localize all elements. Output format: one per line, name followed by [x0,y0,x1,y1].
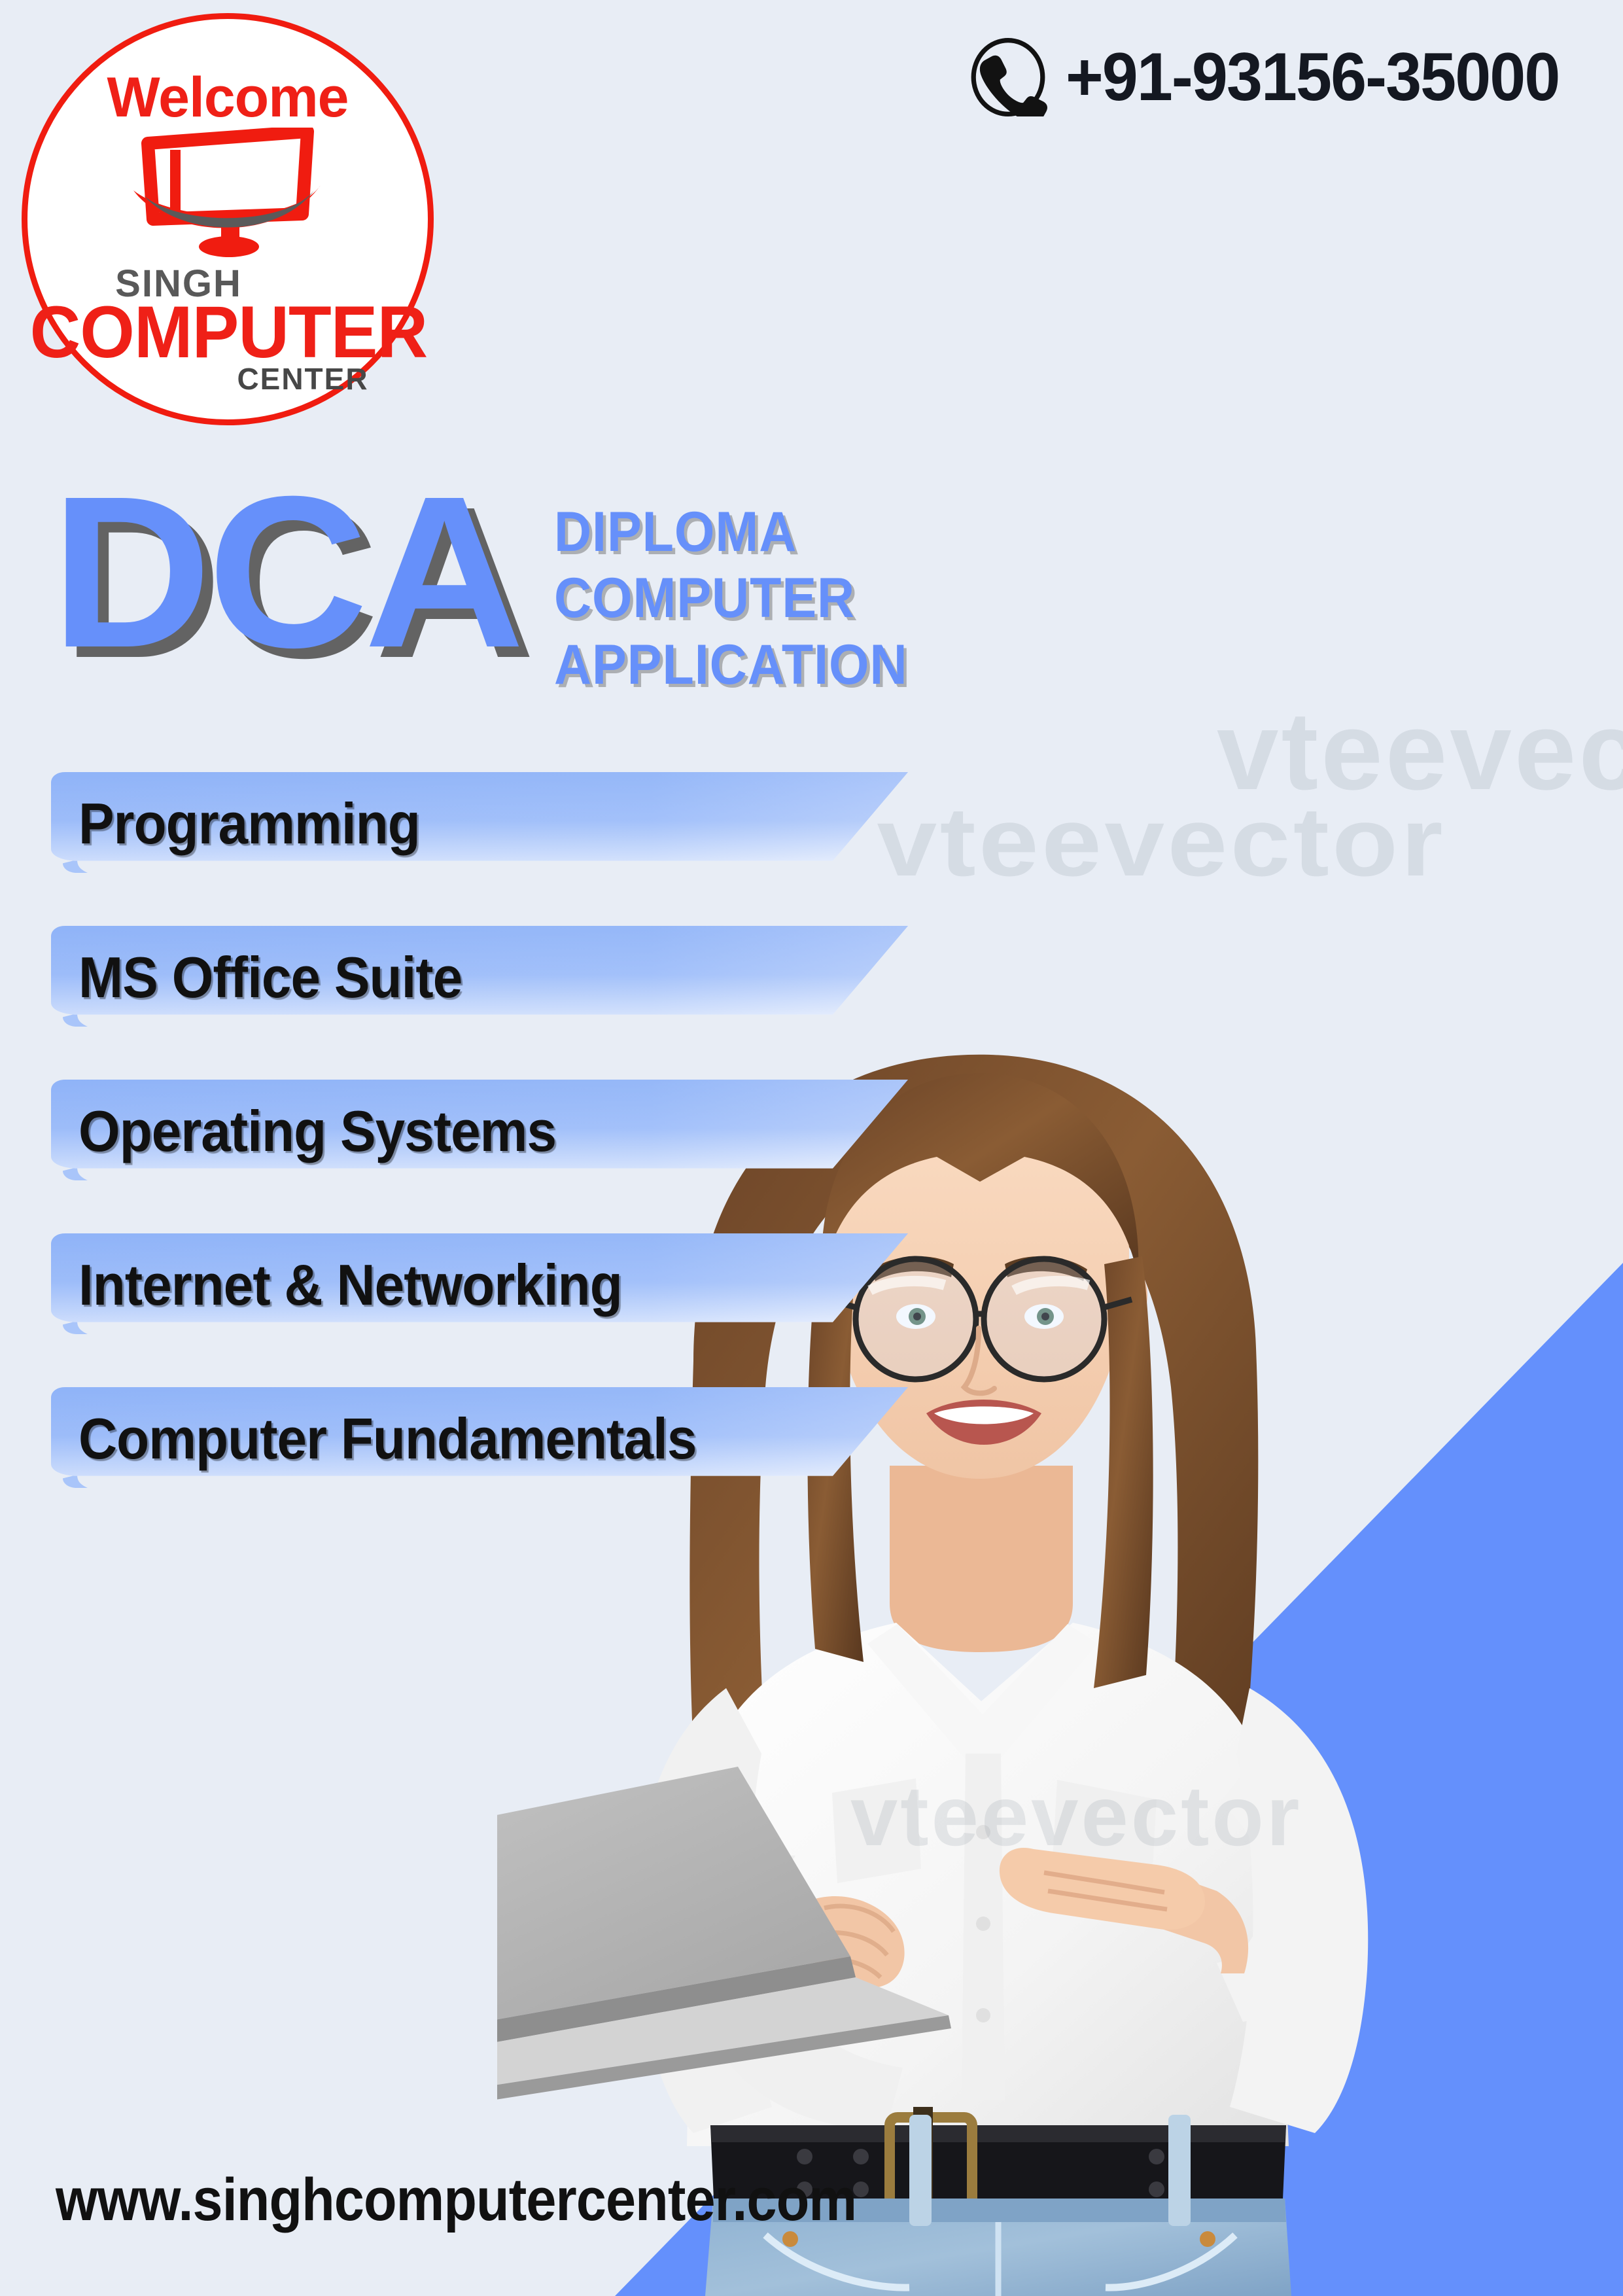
poster-root: Welcome SINGH COMPUTER CENTER +91-93156-… [0,0,1623,2296]
course-banner-label: Computer Fundamentals [79,1405,696,1472]
course-heading: DCA DIPLOMA COMPUTER APPLICATION [51,487,938,698]
course-banner-label: Operating Systems [79,1098,556,1165]
brand-logo[interactable]: Welcome SINGH COMPUTER CENTER [22,13,447,445]
course-banner[interactable]: Programming [51,772,908,880]
phone-number-text: +91-93156-35000 [1066,39,1559,116]
course-banner-label: MS Office Suite [79,944,462,1011]
stock-watermark: vteevector [1217,687,1623,815]
course-banner[interactable]: Operating Systems [51,1080,908,1188]
website-url[interactable]: www.singhcomputercenter.com [56,2166,856,2234]
phone-icon [969,38,1047,116]
course-expansion-line-1: DIPLOMA [554,499,908,565]
monitor-globe-icon [130,128,326,265]
logo-brand-computer: COMPUTER [30,296,426,369]
contact-phone[interactable]: +91-93156-35000 [969,38,1585,116]
course-expansion: DIPLOMA COMPUTER APPLICATION [554,499,908,698]
stock-watermark: vteevector [877,785,1445,898]
logo-brand-center: CENTER [22,364,434,394]
logo-welcome-text: Welcome [22,69,434,126]
course-expansion-line-3: APPLICATION [554,632,908,698]
course-banner-label: Internet & Networking [79,1252,622,1318]
course-banner[interactable]: Internet & Networking [51,1233,908,1341]
course-acronym: DCA [51,487,521,656]
course-expansion-line-2: COMPUTER [554,565,908,631]
student-photo [497,1021,1623,2296]
course-banner[interactable]: Computer Fundamentals [51,1387,908,1495]
course-banner[interactable]: MS Office Suite [51,926,908,1034]
course-banner-label: Programming [79,790,420,857]
